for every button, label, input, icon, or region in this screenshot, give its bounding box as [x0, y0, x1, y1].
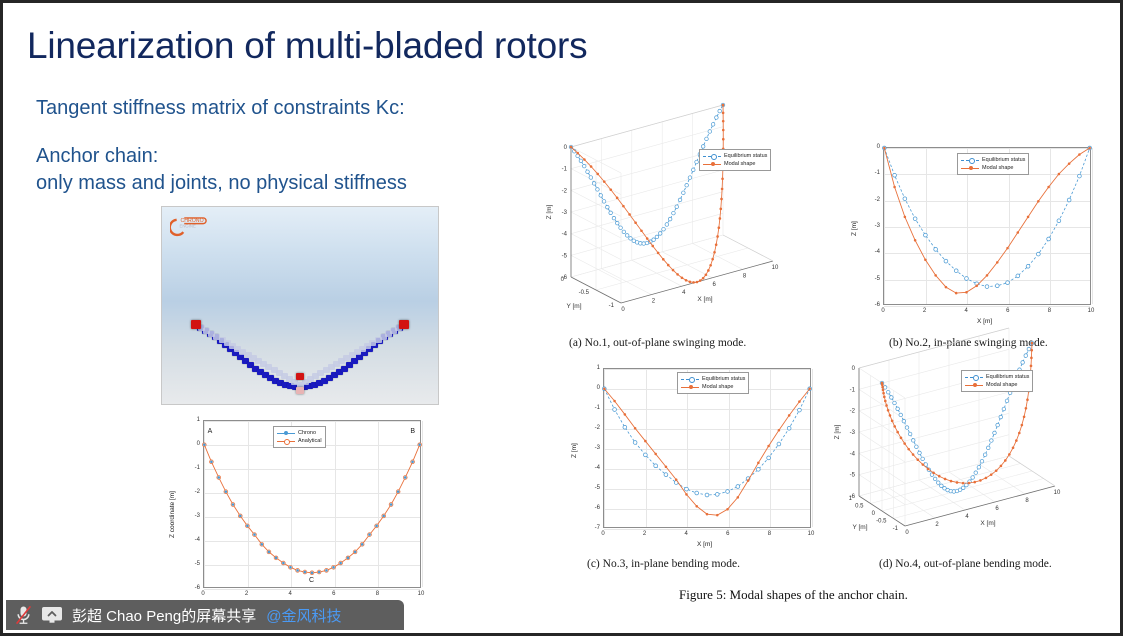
data-point — [689, 281, 692, 284]
y-tick-label: 1 — [585, 365, 600, 371]
data-point — [1036, 252, 1040, 256]
data-point — [570, 146, 573, 149]
data-point — [347, 557, 350, 560]
data-point — [1015, 439, 1018, 442]
data-point — [983, 453, 987, 457]
subtitle-tangent-stiffness: Tangent stiffness matrix of constraints … — [36, 97, 405, 120]
data-point — [977, 465, 981, 469]
tick-label: 8 — [743, 273, 747, 279]
data-point — [907, 448, 910, 451]
data-point — [625, 234, 629, 238]
data-point — [979, 479, 982, 482]
data-point — [956, 481, 959, 484]
data-point — [672, 269, 675, 272]
data-point — [368, 533, 371, 536]
anchor-chain-detail: only mass and joints, no physical stiffn… — [36, 170, 407, 197]
y-tick-label: -4 — [585, 465, 600, 471]
data-point — [936, 481, 940, 485]
data-point — [296, 569, 299, 572]
data-point — [239, 515, 242, 518]
data-point — [1005, 399, 1009, 403]
y-tick-label: -6 — [865, 302, 880, 308]
data-point — [619, 226, 623, 230]
data-point — [411, 461, 414, 464]
data-point — [711, 123, 715, 127]
data-point — [203, 443, 206, 446]
data-point — [1004, 459, 1007, 462]
legend-item-equilibrium: Equilibrium status — [681, 375, 745, 383]
data-point — [311, 571, 314, 574]
data-point — [596, 188, 600, 192]
data-point — [695, 160, 699, 164]
data-point — [602, 200, 606, 204]
data-point — [973, 481, 976, 484]
chrono-simulation-viewport: CHRONO ENGINE — [161, 206, 439, 405]
legend-item-equilibrium: Equilibrium status — [965, 373, 1029, 381]
legend-label-modal: Modal shape — [702, 383, 734, 391]
legend-label-analytical: Analytical — [298, 437, 322, 445]
data-point — [261, 543, 264, 546]
x-tick-label: 6 — [726, 531, 729, 537]
y-tick-label: -4 — [865, 249, 880, 255]
data-point — [1024, 354, 1028, 358]
y-tick-label: -3 — [865, 223, 880, 229]
data-point — [657, 252, 660, 255]
data-point — [702, 277, 705, 280]
x-tick-label: 8 — [768, 531, 771, 537]
data-point — [893, 425, 896, 428]
subcaption-a: (a) No.1, out-of-plane swinging mode. — [569, 337, 746, 349]
data-point — [662, 227, 666, 231]
tick-label: -4 — [562, 232, 568, 238]
presentation-slide: Linearization of multi-bladed rotors Tan… — [0, 0, 1123, 636]
tick-label: 4 — [965, 514, 969, 520]
legend-swatch-modal — [681, 384, 699, 391]
data-point — [968, 482, 971, 485]
data-point — [718, 109, 722, 113]
data-point — [914, 239, 917, 242]
data-point — [1030, 357, 1033, 360]
data-point — [603, 387, 606, 390]
legend-label-modal: Modal shape — [986, 381, 1018, 389]
tick-label: 10 — [1054, 490, 1061, 496]
data-point — [716, 514, 719, 517]
data-point — [1057, 219, 1061, 223]
point-annotation: A — [208, 428, 213, 435]
tick-label: 10 — [772, 265, 779, 271]
data-point — [375, 525, 378, 528]
data-point — [893, 173, 897, 177]
anchor-point-mid-ghost — [296, 387, 304, 394]
data-point — [609, 188, 612, 191]
x-tick-label: 4 — [289, 591, 292, 597]
data-point — [955, 292, 958, 295]
x-tick-label: 6 — [332, 591, 335, 597]
screen-share-icon[interactable] — [41, 606, 63, 624]
data-point — [726, 508, 729, 511]
x-tick-label: 6 — [1006, 308, 1009, 314]
data-point — [757, 462, 760, 465]
x-tick-label: 8 — [1048, 308, 1051, 314]
tick-label: -6 — [850, 494, 856, 500]
tick-label: 2 — [935, 522, 939, 528]
data-point — [965, 483, 969, 487]
y-tick-label: -5 — [185, 561, 200, 567]
data-point — [903, 442, 906, 445]
data-point — [996, 261, 999, 264]
gridline — [812, 369, 813, 527]
data-point — [651, 245, 654, 248]
tick-label: -1 — [562, 167, 568, 173]
data-point — [685, 493, 688, 496]
data-point — [1016, 274, 1020, 278]
x-tick-label: 2 — [643, 531, 646, 537]
data-point — [603, 180, 606, 183]
data-point — [709, 264, 712, 267]
data-point — [624, 413, 627, 416]
data-point — [664, 473, 668, 477]
data-point — [681, 276, 684, 279]
data-point — [1006, 281, 1010, 285]
data-point — [1030, 365, 1033, 368]
share-company-tag: @金风科技 — [266, 605, 341, 626]
data-point — [705, 493, 709, 497]
data-point — [884, 400, 887, 403]
data-point — [685, 487, 689, 491]
data-point — [210, 461, 213, 464]
legend-swatch-equilibrium — [703, 153, 721, 160]
data-point — [1030, 349, 1033, 352]
anchor-point — [191, 320, 201, 329]
tick-label: 0.5 — [855, 504, 864, 510]
tick-label: 2 — [652, 299, 656, 305]
x-tick-label: 2 — [245, 591, 248, 597]
axis-line — [571, 170, 723, 212]
data-point — [705, 274, 708, 277]
data-point — [606, 205, 610, 209]
chart-legend: Equilibrium status Modal shape — [961, 370, 1033, 392]
data-point — [699, 279, 702, 282]
data-point — [944, 259, 948, 263]
legend-label-equilibrium: Equilibrium status — [982, 156, 1025, 164]
data-point — [225, 490, 228, 493]
svg-text:ENGINE: ENGINE — [180, 223, 197, 228]
data-point — [893, 186, 896, 189]
data-line — [882, 343, 1032, 491]
data-point — [655, 235, 659, 239]
data-point — [685, 183, 689, 187]
x-tick-label: 2 — [923, 308, 926, 314]
data-point — [695, 491, 699, 495]
data-point — [995, 469, 998, 472]
data-point — [944, 478, 947, 481]
microphone-muted-icon[interactable] — [15, 605, 32, 625]
x-tick-label: 10 — [808, 531, 815, 537]
data-point — [908, 432, 912, 436]
data-point — [1025, 407, 1028, 410]
legend-item-analytical: Analytical — [277, 437, 322, 445]
legend-label-modal: Modal shape — [724, 160, 756, 168]
chart-legend: Equilibrium status Modal shape — [699, 149, 771, 171]
subtitle-anchor-chain: Anchor chain: only mass and joints, no p… — [36, 143, 407, 197]
legend-swatch-chrono — [277, 430, 295, 437]
data-point — [736, 485, 740, 489]
data-point — [721, 177, 724, 180]
x-axis-label: X [m] — [697, 541, 712, 548]
chart-legend: Equilibrium status Modal shape — [677, 372, 749, 394]
x-tick-label: 4 — [685, 531, 688, 537]
tick-label: -1 — [850, 387, 856, 393]
y-tick-label: -3 — [185, 513, 200, 519]
tick-label: -3 — [850, 430, 856, 436]
data-point — [918, 451, 922, 455]
chart-legend: Chrono Analytical — [273, 426, 326, 448]
mode-4-chart: 024681010.50-0.5-10-1-2-3-4-5-6X [m]Y [m… — [839, 358, 1107, 558]
data-point — [916, 458, 919, 461]
data-point — [903, 197, 907, 201]
axis-line — [571, 105, 723, 147]
data-point — [980, 459, 984, 463]
data-point — [612, 216, 616, 220]
data-point — [896, 407, 900, 411]
x-tick-label: 0 — [201, 591, 204, 597]
data-point — [633, 441, 637, 445]
data-point — [579, 159, 583, 163]
figure-caption: Figure 5: Modal shapes of the anchor cha… — [679, 587, 908, 603]
data-point — [1088, 147, 1091, 150]
data-point — [629, 237, 633, 241]
data-point — [721, 188, 724, 191]
z-axis-label: Z [m] — [546, 204, 553, 219]
data-point — [685, 279, 688, 282]
screen-share-bar[interactable]: 彭超 Chao Peng的屏幕共享 @金风科技 — [6, 600, 404, 630]
x-tick-label: 8 — [376, 591, 379, 597]
y-tick-label: -1 — [185, 465, 200, 471]
y-tick-label: 1 — [185, 417, 200, 423]
y-tick-label: -4 — [185, 537, 200, 543]
legend-swatch-modal — [703, 161, 721, 168]
data-point — [665, 465, 668, 468]
data-point — [767, 456, 771, 460]
legend-item-modal: Modal shape — [961, 164, 1025, 172]
data-point — [961, 486, 965, 490]
data-point — [1006, 247, 1009, 250]
mode-2-chart: Z [m] X [m] Equilibrium status Modal sha… — [839, 135, 1107, 335]
legend-swatch-modal — [961, 165, 979, 172]
data-point — [889, 414, 892, 417]
data-point — [675, 478, 678, 481]
data-point — [990, 473, 993, 476]
data-point — [921, 457, 925, 461]
x-tick-label: 0 — [601, 531, 604, 537]
data-point — [890, 396, 894, 400]
y-tick-label: -1 — [585, 405, 600, 411]
data-point — [1008, 453, 1011, 456]
y-tick-label: -6 — [185, 585, 200, 591]
anchor-point-mid — [296, 373, 304, 380]
data-point — [354, 551, 357, 554]
tick-label: 8 — [1025, 498, 1029, 504]
data-point — [678, 198, 682, 202]
data-point — [275, 557, 278, 560]
y-tick-label: -3 — [585, 445, 600, 451]
data-point — [1047, 186, 1050, 189]
data-point — [1067, 198, 1071, 202]
data-point — [628, 213, 631, 216]
data-point — [1002, 407, 1006, 411]
data-point — [719, 217, 722, 220]
tick-label: 6 — [995, 506, 999, 512]
data-point — [720, 198, 723, 201]
data-point — [887, 409, 890, 412]
data-point — [719, 208, 722, 211]
data-point — [798, 400, 801, 403]
tick-label: 0 — [872, 511, 876, 517]
share-owner-label: 彭超 Chao Peng的屏幕共享 — [72, 605, 256, 626]
data-point — [950, 480, 953, 483]
data-point — [676, 273, 679, 276]
data-point — [713, 251, 716, 254]
axis-line — [571, 213, 723, 255]
data-point — [282, 562, 285, 565]
data-point — [1047, 237, 1051, 241]
data-point — [986, 274, 989, 277]
data-point — [1017, 231, 1020, 234]
tick-label: -6 — [562, 275, 568, 281]
legend-item-modal: Modal shape — [681, 383, 745, 391]
legend-item-equilibrium: Equilibrium status — [703, 152, 767, 160]
data-point — [658, 232, 662, 236]
data-point — [706, 513, 709, 516]
data-point — [985, 285, 989, 289]
data-point — [232, 503, 235, 506]
data-point — [289, 566, 292, 569]
data-point — [767, 445, 770, 448]
data-point — [418, 443, 421, 446]
data-point — [882, 392, 885, 395]
x-tick-label: 0 — [881, 308, 884, 314]
y-tick-label: -1 — [865, 170, 880, 176]
subcaption-d: (d) No.4, out-of-plane bending mode. — [879, 558, 1052, 570]
data-point — [654, 464, 658, 468]
data-point — [1012, 446, 1015, 449]
data-point — [1031, 342, 1034, 345]
data-point — [882, 389, 885, 392]
tick-label: -1 — [609, 303, 615, 309]
y-tick-label: -2 — [185, 489, 200, 495]
legend-label-equilibrium: Equilibrium status — [702, 375, 745, 383]
tick-label: -2 — [562, 188, 568, 194]
data-point — [711, 258, 714, 261]
data-point — [737, 496, 740, 499]
y-axis-label: Z [m] — [851, 221, 858, 236]
data-point — [885, 404, 888, 407]
legend-swatch-equilibrium — [681, 376, 699, 383]
data-point — [268, 551, 271, 554]
data-point — [668, 217, 672, 221]
data-point — [777, 442, 781, 446]
data-point — [615, 221, 619, 225]
data-point — [716, 235, 719, 238]
x-tick-label: 10 — [418, 591, 425, 597]
legend-label-equilibrium: Equilibrium status — [724, 152, 767, 160]
x-axis-label: X [m] — [697, 296, 712, 303]
tick-label: -5 — [562, 253, 568, 259]
legend-swatch-equilibrium — [965, 374, 983, 381]
data-point — [361, 543, 364, 546]
data-point — [589, 176, 593, 180]
anchor-point — [399, 320, 409, 329]
data-point — [962, 482, 965, 485]
tick-label: 0 — [852, 366, 856, 372]
data-point — [715, 493, 719, 497]
axis-line — [859, 392, 1009, 432]
gridline — [204, 589, 420, 590]
y-axis-label: Z [m] — [571, 443, 578, 458]
data-point — [1078, 174, 1082, 178]
data-point — [990, 439, 994, 443]
data-point — [886, 390, 890, 394]
data-point — [1027, 347, 1031, 351]
legend-label-modal: Modal shape — [982, 164, 1014, 172]
tick-label: 0 — [905, 530, 909, 536]
y-tick-label: -2 — [865, 197, 880, 203]
data-point — [390, 503, 393, 506]
y-tick-label: -7 — [585, 525, 600, 531]
data-point — [722, 129, 725, 132]
data-point — [599, 194, 603, 198]
data-point — [933, 477, 937, 481]
data-point — [590, 165, 593, 168]
gridline — [1092, 148, 1093, 304]
data-point — [954, 269, 958, 273]
legend-swatch-modal — [965, 382, 983, 389]
data-point — [902, 419, 906, 423]
data-point — [692, 281, 695, 284]
data-point — [672, 211, 676, 215]
y-axis-label: Y [m] — [852, 524, 867, 531]
mode-3-chart: Z [m] X [m] Equilibrium status Modal sha… — [559, 358, 827, 558]
data-point — [665, 223, 669, 227]
page-title: Linearization of multi-bladed rotors — [27, 25, 587, 67]
data-point — [996, 423, 1000, 427]
data-point — [896, 431, 899, 434]
chart-legend: Equilibrium status Modal shape — [957, 153, 1029, 175]
data-point — [924, 233, 928, 237]
data-point — [915, 445, 919, 449]
data-point — [667, 264, 670, 267]
data-point — [883, 396, 886, 399]
data-point — [945, 286, 948, 289]
data-point — [904, 216, 907, 219]
data-point — [934, 248, 938, 252]
legend-item-equilibrium: Equilibrium status — [961, 156, 1025, 164]
data-point — [891, 420, 894, 423]
data-point — [911, 439, 915, 443]
y-tick-label: -2 — [585, 425, 600, 431]
data-point — [634, 221, 637, 224]
data-point — [682, 191, 686, 195]
legend-item-modal: Modal shape — [703, 160, 767, 168]
data-point — [778, 429, 781, 432]
data-point — [646, 237, 649, 240]
data-point — [971, 476, 975, 480]
data-point — [881, 384, 884, 387]
y-tick-label: -5 — [585, 485, 600, 491]
data-point — [397, 490, 400, 493]
data-point — [921, 463, 924, 466]
x-axis-label: X [m] — [980, 520, 995, 527]
